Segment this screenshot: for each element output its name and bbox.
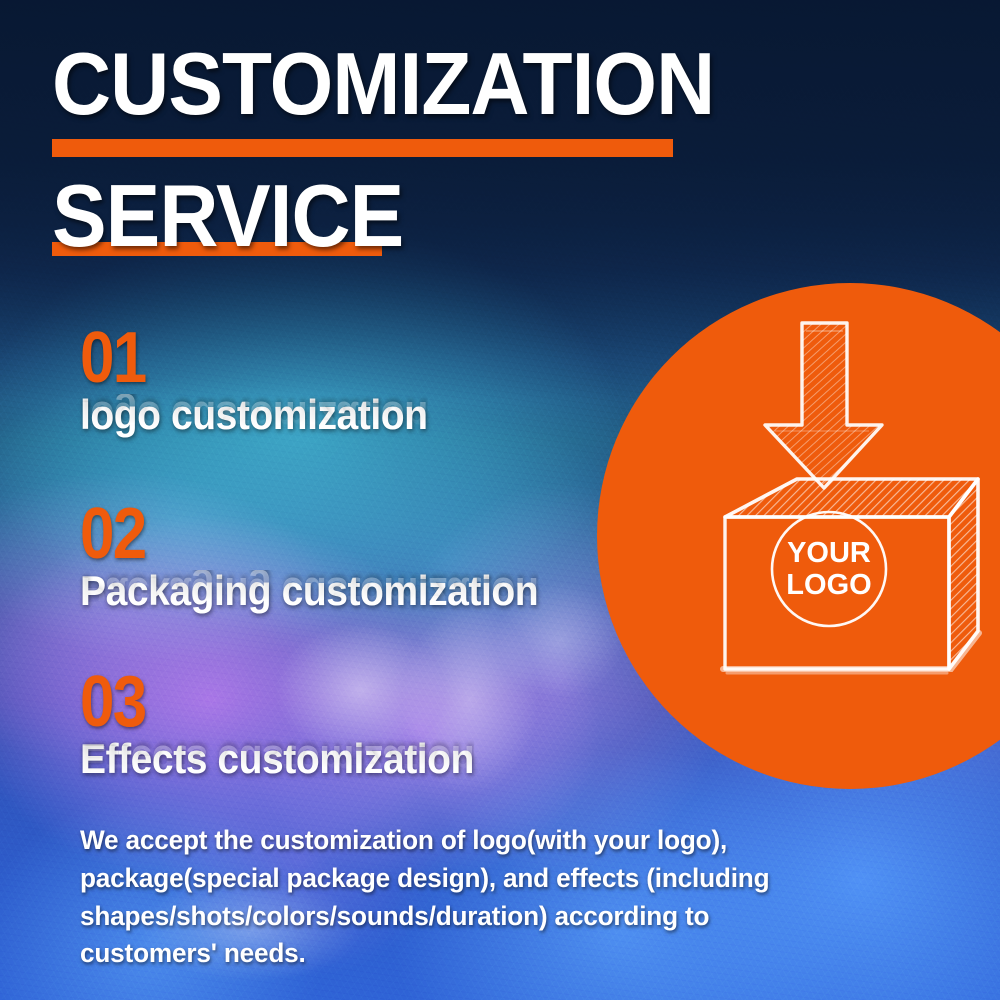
heading-underline-bar-1 bbox=[52, 139, 673, 157]
service-item-number: 03 bbox=[80, 672, 444, 734]
service-item-number: 02 bbox=[80, 504, 504, 566]
service-item-label-reflection: Effects customization bbox=[80, 738, 474, 781]
body-paragraph: We accept the customization of logo(with… bbox=[80, 822, 827, 973]
page-title-line-2: SERVICE bbox=[52, 176, 403, 257]
package-illustration: YOUR LOGO bbox=[597, 283, 1000, 789]
service-item: 01 logo customizationlogo customization bbox=[80, 328, 454, 437]
heading-line-2-wrapper: SERVICE bbox=[52, 170, 430, 257]
logo-placeholder-text-line-1: YOUR bbox=[787, 537, 871, 569]
logo-placeholder-text-line-2: LOGO bbox=[786, 569, 871, 601]
service-item-label-reflection: logo customization bbox=[80, 394, 428, 437]
service-item-label-reflection: Packaging customization bbox=[80, 570, 538, 613]
heading-line-1-wrapper: CUSTOMIZATION bbox=[52, 44, 764, 125]
service-item: 02 Packaging customizationPackaging cust… bbox=[80, 504, 573, 613]
service-item: 03 Effects customizationEffects customiz… bbox=[80, 672, 504, 781]
service-item-number: 01 bbox=[80, 328, 401, 390]
arrow-down-icon bbox=[765, 323, 882, 488]
page-title-line-1: CUSTOMIZATION bbox=[52, 44, 714, 125]
logo-circle-graphic: YOUR LOGO bbox=[597, 283, 1000, 789]
service-item-label: Packaging customizationPackaging customi… bbox=[80, 570, 538, 613]
service-item-label: Effects customizationEffects customizati… bbox=[80, 738, 474, 781]
banner-canvas: CUSTOMIZATION SERVICE 01 logo customizat… bbox=[0, 0, 1000, 1000]
service-item-label: logo customizationlogo customization bbox=[80, 394, 428, 437]
